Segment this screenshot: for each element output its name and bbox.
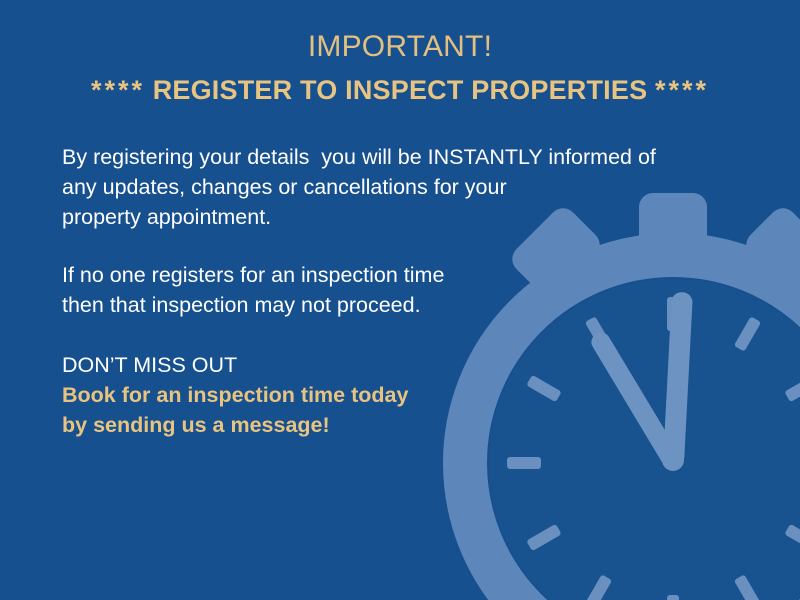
cta-line3: by sending us a message! [62, 410, 722, 440]
stars-right: **** [655, 75, 709, 105]
heading-block: IMPORTANT! **** REGISTER TO INSPECT PROP… [0, 28, 800, 110]
title-register: **** REGISTER TO INSPECT PROPERTIES **** [0, 70, 800, 110]
spacer-two [62, 320, 722, 350]
cta-book-inspection: Book for an inspection time today by sen… [62, 380, 722, 440]
paragraph1-line3: property appointment. [62, 202, 722, 232]
paragraph2-line1: If no one registers for an inspection ti… [62, 260, 722, 290]
body-copy: By registering your details you will be … [62, 142, 722, 440]
cta-line2: Book for an inspection time today [62, 380, 722, 410]
paragraph-registering-details: By registering your details you will be … [62, 142, 722, 232]
spacer-one [62, 232, 722, 260]
cta-dont-miss-out: DON’T MISS OUT [62, 350, 722, 380]
paragraph1-line1: By registering your details you will be … [62, 142, 722, 172]
title-important: IMPORTANT! [0, 28, 800, 66]
paragraph1-line2: any updates, changes or cancellations fo… [62, 172, 722, 202]
paragraph-no-registrations: If no one registers for an inspection ti… [62, 260, 722, 320]
call-to-action-block: DON’T MISS OUT Book for an inspection ti… [62, 350, 722, 440]
stars-left: **** [91, 75, 145, 105]
paragraph2-line2: then that inspection may not proceed. [62, 290, 722, 320]
title-register-text: REGISTER TO INSPECT PROPERTIES [153, 75, 648, 105]
slide-canvas: IMPORTANT! **** REGISTER TO INSPECT PROP… [0, 0, 800, 600]
